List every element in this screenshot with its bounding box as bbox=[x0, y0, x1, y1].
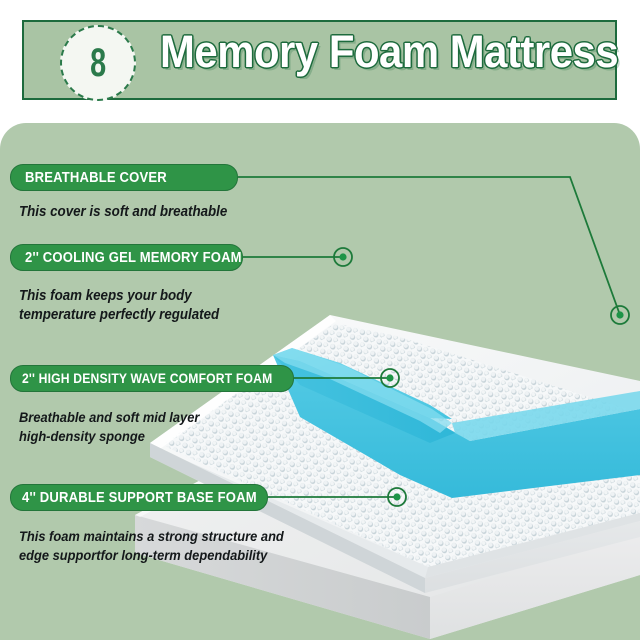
callout-pill-wave-comfort-foam[interactable]: 2'' HIGH DENSITY WAVE COMFORT FOAM bbox=[10, 365, 294, 392]
callout-pill-cooling-gel-memory-foam[interactable]: 2'' COOLING GEL MEMORY FOAM bbox=[10, 244, 243, 271]
callout-description-1: This cover is soft and breathable bbox=[19, 203, 258, 222]
callout-label-4: 4'' DURABLE SUPPORT BASE FOAM bbox=[22, 490, 257, 506]
callout-description-2: This foam keeps your body temperature pe… bbox=[19, 287, 277, 325]
callout-description-4: This foam maintains a strong structure a… bbox=[19, 527, 295, 565]
callout-description-3: Breathable and soft mid layer high-densi… bbox=[19, 408, 277, 446]
callout-pill-durable-support-base-foam[interactable]: 4'' DURABLE SUPPORT BASE FOAM bbox=[10, 484, 268, 511]
callout-label-3: 2'' HIGH DENSITY WAVE COMFORT FOAM bbox=[22, 371, 272, 386]
callout-pill-breathable-cover[interactable]: BREATHABLE COVER bbox=[10, 164, 238, 191]
step-number: 8 bbox=[90, 43, 106, 83]
page-title: Memory Foam Mattress bbox=[160, 23, 579, 81]
callout-label-1: BREATHABLE COVER bbox=[25, 170, 167, 186]
callout-label-2: 2'' COOLING GEL MEMORY FOAM bbox=[25, 250, 242, 266]
step-number-badge: 8 bbox=[60, 25, 136, 101]
main-panel: BREATHABLE COVER This cover is soft and … bbox=[0, 123, 640, 640]
infographic-root: 8 Memory Foam Mattress bbox=[0, 0, 640, 640]
